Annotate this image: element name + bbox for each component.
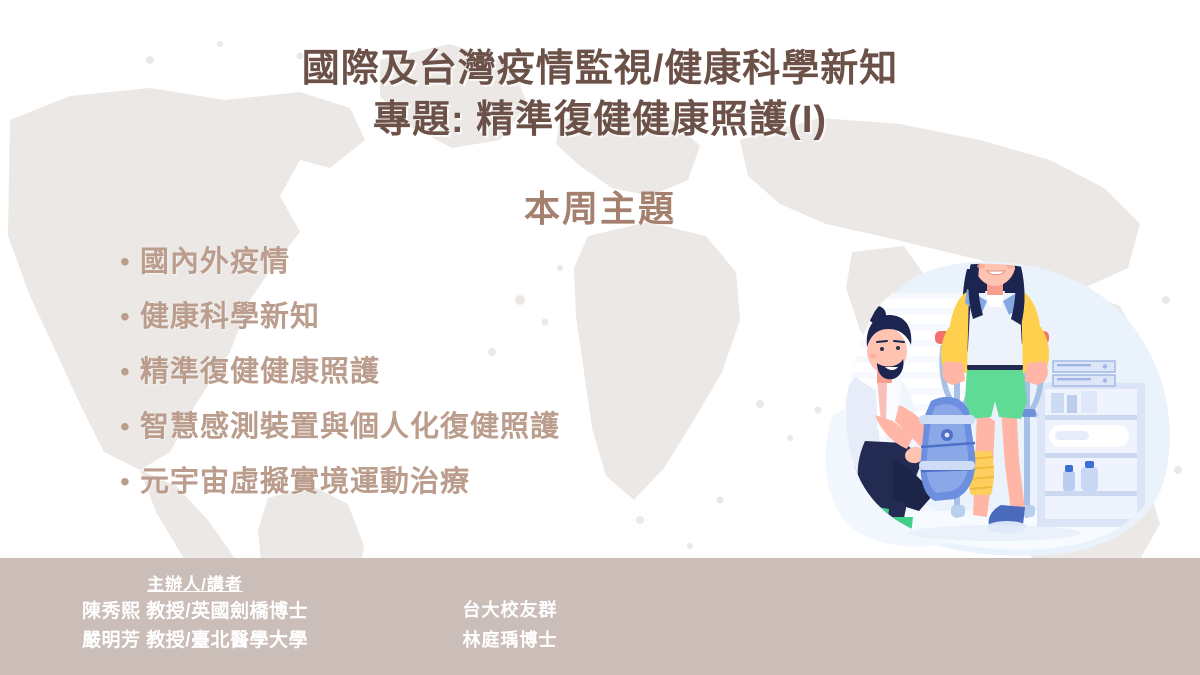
list-item-label: 元宇宙虛擬實境運動治療 [140,468,470,497]
footer-organizer-heading: 主辦人/講者 [0,572,390,598]
footer-band: 主辦人/講者 陳秀熙 教授/英國劍橋博士 嚴明芳 教授/臺北醫學大學 台大校友群… [0,558,1200,675]
list-item: • 精準復健健康照護 [120,358,820,413]
footer-group-person: 林庭瑀博士 [390,626,630,656]
list-item-label: 國內外疫情 [140,248,290,277]
bullet-dot-icon: • [120,358,140,386]
physical-therapy-rehab-illustration [815,215,1200,560]
bullet-dot-icon: • [120,468,140,496]
list-item: • 智慧感測裝置與個人化復健照護 [120,413,820,468]
topic-bullet-list: • 國內外疫情 • 健康科學新知 • 精準復健健康照護 • 智慧感測裝置與個人化… [120,248,820,523]
footer-group-name: 台大校友群 [390,596,630,626]
list-item-label: 精準復健健康照護 [140,358,380,387]
list-item-label: 健康科學新知 [140,303,320,332]
list-item: • 國內外疫情 [120,248,820,303]
list-item: • 健康科學新知 [120,303,820,358]
footer-group-column: 台大校友群 林庭瑀博士 [390,596,630,655]
bullet-dot-icon: • [120,303,140,331]
footer-speaker-line: 陳秀熙 教授/英國劍橋博士 [0,598,390,627]
title-line-2: 專題: 精準復健健康照護(I) [0,95,1200,146]
list-item-label: 智慧感測裝置與個人化復健照護 [140,413,560,442]
section-heading: 本周主題 [0,180,1200,232]
presentation-slide: 國際及台灣疫情監視/健康科學新知 專題: 精準復健健康照護(I) 本周主題 • … [0,0,1200,675]
footer-speaker-line: 嚴明芳 教授/臺北醫學大學 [0,627,390,656]
bullet-dot-icon: • [120,413,140,441]
list-item: • 元宇宙虛擬實境運動治療 [120,468,820,523]
leg-brace [919,397,975,501]
hair-bun [868,306,886,324]
bullet-dot-icon: • [120,248,140,276]
title-line-1: 國際及台灣疫情監視/健康科學新知 [0,44,1200,95]
footer-organizer-column: 主辦人/講者 陳秀熙 教授/英國劍橋博士 嚴明芳 教授/臺北醫學大學 [0,572,390,655]
slide-title: 國際及台灣疫情監視/健康科學新知 專題: 精準復健健康照護(I) [0,44,1200,145]
